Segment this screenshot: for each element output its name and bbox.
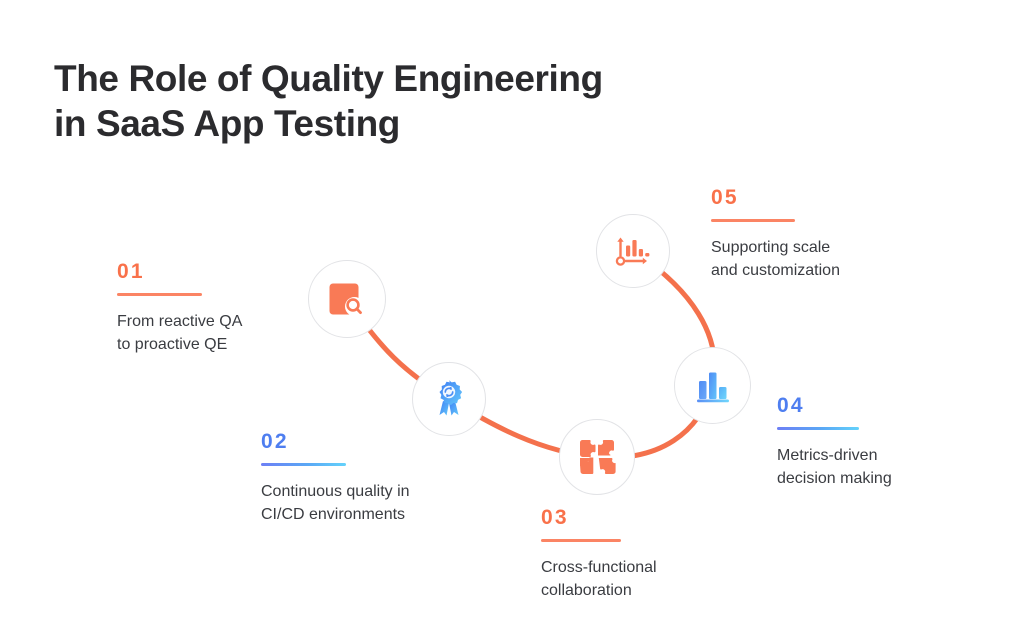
node-step-04[interactable] [674, 347, 751, 424]
step-block-05: 05 Supporting scale and customization [711, 186, 901, 282]
node-step-05[interactable] [596, 214, 670, 288]
step-block-02: 02 Continuous quality in CI/CD environme… [261, 430, 461, 526]
step-text-03: Cross-functional collaboration [541, 556, 726, 602]
step-text-04: Metrics-driven decision making [777, 444, 972, 490]
node-step-02[interactable] [412, 362, 486, 436]
title-line-1: The Role of Quality Engineering [54, 56, 694, 101]
document-search-icon [329, 280, 365, 318]
step-number-03: 03 [541, 506, 726, 530]
title-line-2: in SaaS App Testing [54, 101, 694, 146]
step-text-05: Supporting scale and customization [711, 236, 901, 282]
step-number-05: 05 [711, 186, 901, 210]
step-block-04: 04 Metrics-driven decision making [777, 394, 972, 490]
award-badge-icon [432, 379, 466, 419]
growth-chart-icon [614, 233, 652, 269]
step-number-01: 01 [117, 260, 292, 284]
step-number-04: 04 [777, 394, 972, 418]
step-number-02: 02 [261, 430, 461, 454]
node-step-01[interactable] [308, 260, 386, 338]
step-text-02: Continuous quality in CI/CD environments [261, 480, 461, 526]
step-block-01: 01 From reactive QA to proactive QE [117, 260, 292, 356]
step-rule-01 [117, 293, 202, 296]
infographic-canvas: The Role of Quality Engineering in SaaS … [0, 0, 1024, 634]
bar-chart-icon [694, 368, 732, 404]
step-rule-03 [541, 539, 621, 542]
step-text-01: From reactive QA to proactive QE [117, 310, 292, 356]
step-rule-02 [261, 463, 346, 466]
node-step-03[interactable] [559, 419, 635, 495]
step-rule-05 [711, 219, 795, 222]
step-block-03: 03 Cross-functional collaboration [541, 506, 726, 602]
page-title: The Role of Quality Engineering in SaaS … [54, 56, 694, 146]
puzzle-pieces-icon [577, 437, 617, 477]
step-rule-04 [777, 427, 859, 430]
